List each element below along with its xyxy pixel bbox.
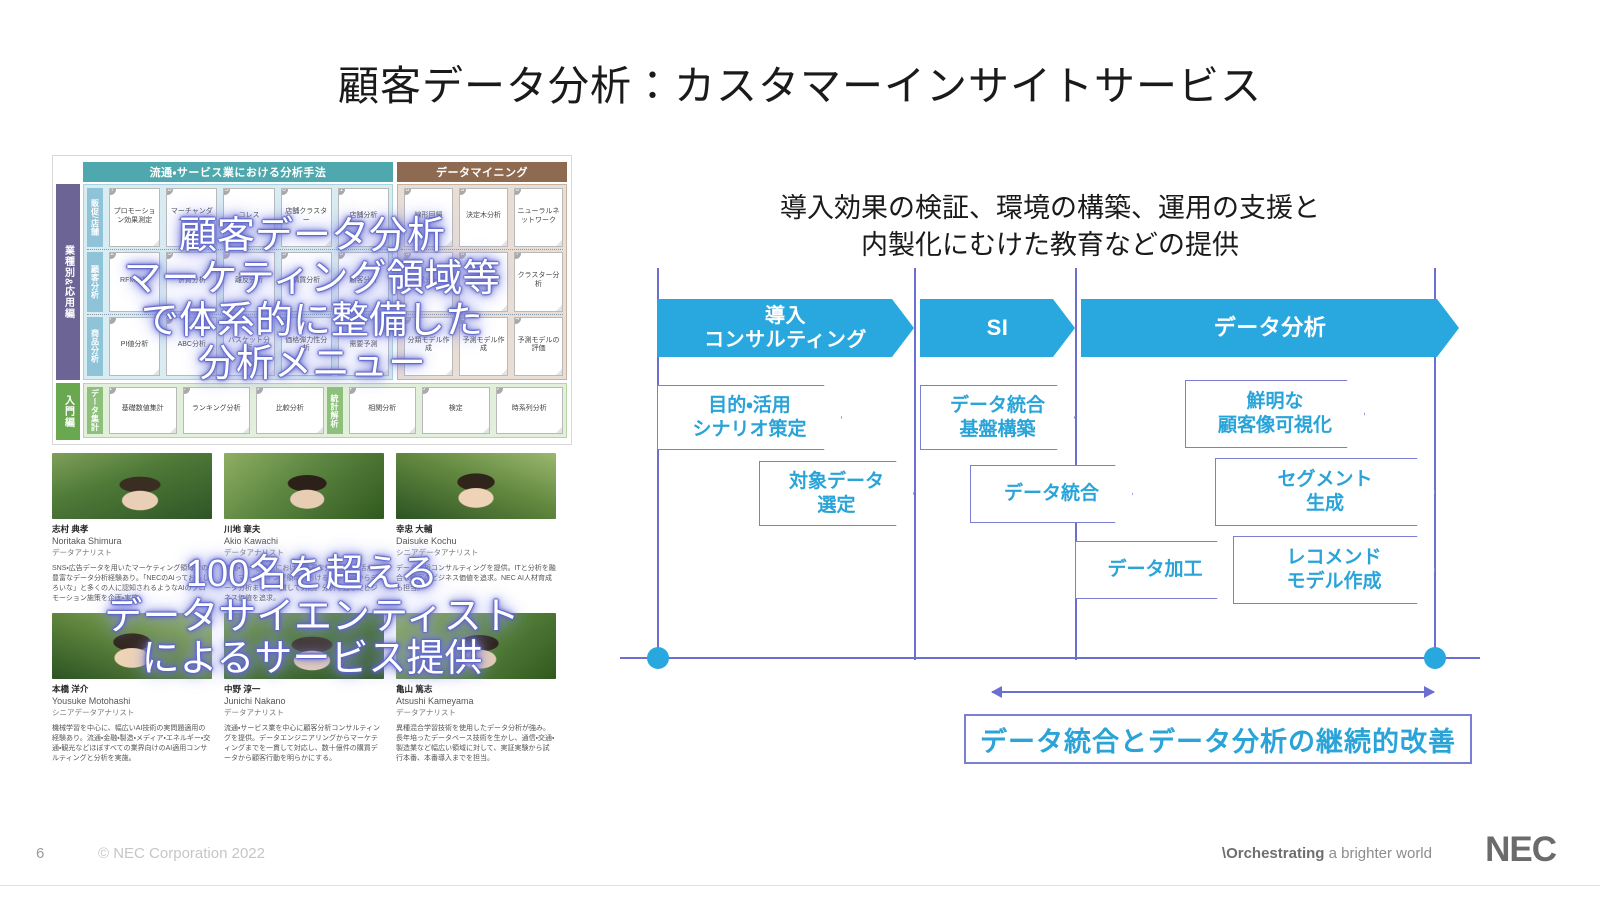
matrix-cell[interactable]: 29決定木分析 xyxy=(456,188,508,247)
matrix-card-number: 6 xyxy=(496,387,503,394)
slide-root: 顧客データ分析：カスタマーインサイトサービス 流通・サービス業における分析手法 … xyxy=(0,0,1600,900)
analysis-matrix: 流通・サービス業における分析手法 データマイニング 業種別&応用編 入門編 販促… xyxy=(52,155,572,445)
matrix-card[interactable]: 17プロモーション効果測定 xyxy=(109,188,160,247)
matrix-card[interactable]: 13併買分析 xyxy=(166,252,217,311)
matrix-card-number: 3 xyxy=(256,387,263,394)
person-name-ja: 亀山 篤志 xyxy=(396,683,556,695)
step-segment-generation[interactable]: セグメント 生成 xyxy=(1215,458,1435,526)
person-role: シニアデータアナリスト xyxy=(52,707,212,718)
person-photo xyxy=(396,613,556,679)
person-card: 幸忠 大輔 Daisuke Kochu シニアデータアナリスト データ分析コンサ… xyxy=(396,453,556,605)
step-purpose-scenario[interactable]: 目的・活用 シナリオ策定 xyxy=(657,385,842,450)
matrix-cell[interactable]: 22分類モデル作成 xyxy=(401,317,453,376)
matrix-card-label: 判別分析 xyxy=(470,277,498,286)
matrix-card[interactable]: 23予測モデル作成 xyxy=(459,317,508,376)
matrix-cell[interactable]: 14離反分析 xyxy=(220,252,274,311)
matrix-card-number: 23 xyxy=(459,317,466,324)
matrix-card-number: 18 xyxy=(166,188,173,195)
matrix-card-label: プロモーション効果測定 xyxy=(111,208,158,226)
matrix-header-datamining: データマイニング xyxy=(397,162,567,182)
step-label-line: シナリオ策定 xyxy=(692,418,806,442)
person-bio: データ分析コンサルティングを提供。ITと分析を融合し顧客のビジネス価値を追求。N… xyxy=(396,564,556,594)
matrix-card-number: 15 xyxy=(281,252,288,259)
person-role: データアナリスト xyxy=(224,707,384,718)
person-name-ja: 中野 淳一 xyxy=(224,683,384,695)
matrix-cell[interactable]: 19コレス xyxy=(220,188,274,247)
matrix-card-number: 20 xyxy=(281,188,288,195)
matrix-cell[interactable]: 5検定 xyxy=(419,387,490,434)
matrix-card-label: 価格弾力性分析 xyxy=(283,337,330,355)
matrix-card-number: 1 xyxy=(109,387,116,394)
matrix-card-number: 10 xyxy=(281,317,288,324)
matrix-card[interactable]: 18マーチャンダイジング xyxy=(166,188,217,247)
right-panel: 導入効果の検証、環境の構築、運用の支援と 内製化にむけた教育などの提供 導入 コ… xyxy=(620,178,1520,798)
matrix-cell[interactable]: 30ニューラルネットワーク xyxy=(511,188,563,247)
matrix-card[interactable]: 28線形回帰 xyxy=(404,188,453,247)
matrix-card-label: 予測モデル作成 xyxy=(461,337,506,355)
matrix-side-label-basic: 入門編 xyxy=(56,383,80,440)
matrix-cell[interactable]: 13併買分析 xyxy=(163,252,217,311)
matrix-card-label: 主成分分析 xyxy=(411,277,446,286)
matrix-card[interactable]: 16顧客分析 xyxy=(338,252,389,311)
page-title: 顧客データ分析：カスタマーインサイトサービス xyxy=(0,52,1600,112)
matrix-cell[interactable]: 27クラスター分析 xyxy=(511,252,563,311)
matrix-card-label: 併買分析 xyxy=(178,277,206,286)
matrix-cell[interactable]: 11需要予測 xyxy=(335,317,389,376)
phase-bar-data-analysis[interactable]: データ分析 xyxy=(1081,299,1459,357)
matrix-cell[interactable]: 1基礎数値集計 xyxy=(106,387,177,434)
person-card: 中野 淳一 Junichi Nakano データアナリスト 流通・サービス業を中… xyxy=(224,613,384,765)
step-label-line: 生成 xyxy=(1277,492,1372,516)
person-bio: 異種混合学習技術を使用したデータ分析が強み。長年培ったデータベース技術を生かし、… xyxy=(396,724,556,765)
matrix-cell[interactable]: 18マーチャンダイジング xyxy=(163,188,217,247)
matrix-card[interactable]: 25主成分分析 xyxy=(404,252,453,311)
matrix-card[interactable]: 26判別分析 xyxy=(459,252,508,311)
phase-label-line: コンサルティング xyxy=(704,328,867,352)
matrix-group-basic: データ集計 1基礎数値集計 2ランキング分析 3比較分析 統計解析 4相関分析 … xyxy=(83,383,567,438)
step-label-line: 基盤構築 xyxy=(950,418,1045,442)
matrix-card-label: 相関分析 xyxy=(368,405,396,414)
person-photo xyxy=(52,453,212,519)
matrix-card[interactable]: 30ニューラルネットワーク xyxy=(514,188,563,247)
matrix-cell[interactable]: 9バスケット分析 xyxy=(220,317,274,376)
step-label-line: データ加工 xyxy=(1107,558,1202,582)
step-label-line: 対象データ xyxy=(789,470,884,494)
person-bio: 機械学習を中心に、幅広いAI技術の実問題適用の経験あり。流通・金融・製造・メディ… xyxy=(52,724,212,765)
person-name-en: Atsushi Kameyama xyxy=(396,696,556,706)
matrix-row: 顧客分析 12RFM分析 13併買分析 14離反分析 15購買分析 16顧客分析 xyxy=(87,249,389,311)
phase-bar-consulting[interactable]: 導入 コンサルティング xyxy=(657,299,914,357)
continuous-improvement-arrow xyxy=(992,691,1434,693)
person-role: データアナリスト xyxy=(396,707,556,718)
matrix-cell[interactable]: 24予測モデルの評価 xyxy=(511,317,563,376)
matrix-card-label: マーチャンダイジング xyxy=(168,208,215,226)
matrix-card-label: 顧客分析 xyxy=(349,277,377,286)
matrix-card-number: 14 xyxy=(223,252,230,259)
phase-divider-mid2 xyxy=(1075,268,1077,660)
matrix-card-number: 27 xyxy=(514,252,521,259)
person-photo xyxy=(52,613,212,679)
matrix-card-label: 需要予測 xyxy=(349,341,377,350)
matrix-card[interactable]: 11需要予測 xyxy=(338,317,389,376)
person-bio: 流通・サービス業を中心に顧客分析コンサルティングを提供。データエンジニアリングか… xyxy=(224,724,384,765)
matrix-cell[interactable]: 7PI値分析 xyxy=(106,317,160,376)
matrix-body: 販促/店舗 17プロモーション効果測定 18マーチャンダイジング 19コレス 2… xyxy=(83,184,567,438)
person-photo xyxy=(396,453,556,519)
person-name-ja: 本橋 洋介 xyxy=(52,683,212,695)
matrix-card-number: 24 xyxy=(514,317,521,324)
matrix-card-number: 26 xyxy=(459,252,466,259)
step-customer-visualization[interactable]: 鮮明な 顧客像可視化 xyxy=(1185,380,1365,448)
tagline-rest: a brighter world xyxy=(1324,845,1432,862)
matrix-card-number: 28 xyxy=(404,188,411,195)
people-row-top: 志村 典孝 Noritaka Shimura データアナリスト SNS・広告デー… xyxy=(52,453,572,605)
matrix-card-label: ABC分析 xyxy=(178,341,206,350)
matrix-card[interactable]: 4相関分析 xyxy=(349,387,417,434)
matrix-card[interactable]: 9バスケット分析 xyxy=(223,317,274,376)
matrix-card-number: 11 xyxy=(338,317,345,324)
matrix-card[interactable]: 2ランキング分析 xyxy=(183,387,251,434)
matrix-card-label: 離反分析 xyxy=(235,277,263,286)
timeline-end-marker xyxy=(1424,647,1446,669)
person-name-ja: 幸忠 大輔 xyxy=(396,523,556,535)
person-bio: SNS・広告データを用いたマーケティング領域での豊富なデータ分析経験あり。「NE… xyxy=(52,564,212,605)
matrix-card-label: 決定木分析 xyxy=(466,212,501,221)
person-card: 本橋 洋介 Yousuke Motohashi シニアデータアナリスト 機械学習… xyxy=(52,613,212,765)
step-label-line: 鮮明な xyxy=(1218,390,1332,414)
matrix-card[interactable]: 5検定 xyxy=(422,387,490,434)
matrix-card-number: 8 xyxy=(166,317,173,324)
phase-label-line: 導入 xyxy=(704,304,867,328)
matrix-cell[interactable]: 20店舗クラスター xyxy=(278,188,332,247)
phase-divider-mid1 xyxy=(914,268,916,660)
timeline-axis xyxy=(620,657,1480,659)
step-recommend-model[interactable]: レコメンド モデル作成 xyxy=(1233,536,1435,604)
matrix-card-number: 19 xyxy=(223,188,230,195)
nec-logo: NEC xyxy=(1485,830,1556,870)
person-name-en: Noritaka Shimura xyxy=(52,536,212,546)
matrix-card[interactable]: 8ABC分析 xyxy=(166,317,217,376)
matrix-group-applied: 販促/店舗 17プロモーション効果測定 18マーチャンダイジング 19コレス 2… xyxy=(83,184,567,380)
matrix-row: 商品分析 7PI値分析 8ABC分析 9バスケット分析 10価格弾力性分析 11… xyxy=(87,314,389,376)
matrix-card[interactable]: 3比較分析 xyxy=(256,387,324,434)
matrix-card-label: クラスター分析 xyxy=(516,272,561,290)
person-name-en: Junichi Nakano xyxy=(224,696,384,706)
matrix-cell[interactable]: 16顧客分析 xyxy=(335,252,389,311)
right-panel-headline: 導入効果の検証、環境の構築、運用の支援と 内製化にむけた教育などの提供 xyxy=(620,190,1480,265)
person-name-en: Daisuke Kochu xyxy=(396,536,556,546)
matrix-cell[interactable]: 23予測モデル作成 xyxy=(456,317,508,376)
matrix-cell[interactable]: 12RFM分析 xyxy=(106,252,160,311)
matrix-card-number: 22 xyxy=(404,317,411,324)
step-target-data-selection[interactable]: 対象データ 選定 xyxy=(759,461,914,526)
matrix-zone-retail: 販促/店舗 17プロモーション効果測定 18マーチャンダイジング 19コレス 2… xyxy=(83,184,393,380)
person-role: シニアデータアナリスト xyxy=(396,547,556,558)
matrix-card-label: 購買分析 xyxy=(292,277,320,286)
matrix-cell[interactable]: 28線形回帰 xyxy=(401,188,453,247)
matrix-row: 販促/店舗 17プロモーション効果測定 18マーチャンダイジング 19コレス 2… xyxy=(87,188,389,247)
person-card: 志村 典孝 Noritaka Shimura データアナリスト SNS・広告デー… xyxy=(52,453,212,605)
matrix-cell[interactable]: 17プロモーション効果測定 xyxy=(106,188,160,247)
left-panel: 流通・サービス業における分析手法 データマイニング 業種別&応用編 入門編 販促… xyxy=(52,155,580,825)
step-label-line: データ統合 xyxy=(950,394,1045,418)
person-card: 川地 章夫 Akio Kawachi データアナリスト 流通・サービス業における… xyxy=(224,453,384,605)
matrix-card[interactable]: 15購買分析 xyxy=(281,252,332,311)
headline-line: 導入効果の検証、環境の構築、運用の支援と xyxy=(620,190,1480,227)
matrix-card[interactable]: 1基礎数値集計 xyxy=(109,387,177,434)
matrix-row: 25主成分分析 26判別分析 27クラスター分析 xyxy=(401,249,563,311)
matrix-card-label: 検定 xyxy=(449,405,463,414)
matrix-cell[interactable]: 25主成分分析 xyxy=(401,252,453,311)
matrix-card-label: 店舗分析 xyxy=(349,212,377,221)
matrix-card-number: 30 xyxy=(514,188,521,195)
step-data-processing[interactable]: データ加工 xyxy=(1075,541,1235,599)
matrix-cell[interactable]: 2ランキング分析 xyxy=(180,387,251,434)
matrix-row: データ集計 1基礎数値集計 2ランキング分析 3比較分析 統計解析 4相関分析 … xyxy=(87,387,563,434)
matrix-card-label: RFM分析 xyxy=(120,277,149,286)
tagline-bold: \Orchestrating xyxy=(1222,845,1325,862)
matrix-card[interactable]: 20店舗クラスター xyxy=(281,188,332,247)
people-row-bottom: 本橋 洋介 Yousuke Motohashi シニアデータアナリスト 機械学習… xyxy=(52,613,572,765)
phase-label-line: SI xyxy=(987,315,1009,341)
matrix-card-label: ランキング分析 xyxy=(192,405,241,414)
person-photo xyxy=(224,453,384,519)
data-scientists-section: 志村 典孝 Noritaka Shimura データアナリスト SNS・広告デー… xyxy=(52,453,572,768)
matrix-card-number: 2 xyxy=(183,387,190,394)
step-label-line: レコメンド xyxy=(1286,546,1381,570)
person-photo xyxy=(224,613,384,679)
matrix-card[interactable]: 10価格弾力性分析 xyxy=(281,317,332,376)
matrix-cell[interactable]: 6時系列分析 xyxy=(493,387,564,434)
matrix-cell[interactable]: 26判別分析 xyxy=(456,252,508,311)
matrix-cell[interactable]: 15購買分析 xyxy=(278,252,332,311)
matrix-card[interactable]: 14離反分析 xyxy=(223,252,274,311)
step-data-integration[interactable]: データ統合 xyxy=(970,465,1133,523)
step-label-line: 選定 xyxy=(789,494,884,518)
matrix-card-label: 予測モデルの評価 xyxy=(516,337,561,355)
page-number: 6 xyxy=(36,845,44,862)
phase-bar-si[interactable]: SI xyxy=(920,299,1075,357)
matrix-card-label: バスケット分析 xyxy=(225,337,272,355)
person-card: 亀山 篤志 Atsushi Kameyama データアナリスト 異種混合学習技術… xyxy=(396,613,556,765)
step-label-line: 目的・活用 xyxy=(692,394,806,418)
step-label-line: 顧客像可視化 xyxy=(1218,414,1332,438)
phase-label-line: データ分析 xyxy=(1214,315,1327,341)
matrix-card-number: 29 xyxy=(459,188,466,195)
matrix-card-number: 21 xyxy=(338,188,345,195)
matrix-row-label-statistics: 統計解析 xyxy=(327,387,343,434)
matrix-card-number: 12 xyxy=(109,252,116,259)
matrix-cell[interactable]: 3比較分析 xyxy=(253,387,324,434)
bottom-caption-continuous-improvement[interactable]: データ統合とデータ分析の継続的改善 xyxy=(964,714,1472,764)
step-label-line: データ統合 xyxy=(1004,482,1099,506)
person-role: データアナリスト xyxy=(224,547,384,558)
matrix-card[interactable]: 24予測モデルの評価 xyxy=(514,317,563,376)
matrix-card-number: 13 xyxy=(166,252,173,259)
matrix-side-label-applied: 業種別&応用編 xyxy=(56,184,80,380)
matrix-card[interactable]: 19コレス xyxy=(223,188,274,247)
matrix-card-label: 時系列分析 xyxy=(512,405,547,414)
matrix-card[interactable]: 12RFM分析 xyxy=(109,252,160,311)
matrix-card[interactable]: 29決定木分析 xyxy=(459,188,508,247)
person-name-ja: 志村 典孝 xyxy=(52,523,212,535)
matrix-card-number: 25 xyxy=(404,252,411,259)
matrix-card[interactable]: 6時系列分析 xyxy=(496,387,564,434)
matrix-row-label: 商品分析 xyxy=(87,317,103,376)
matrix-column-headers: 流通・サービス業における分析手法 データマイニング xyxy=(83,162,567,182)
matrix-card-label: 基礎数値集計 xyxy=(122,405,164,414)
copyright-text: © NEC Corporation 2022 xyxy=(98,845,265,862)
matrix-card-label: 分類モデル作成 xyxy=(406,337,451,355)
step-data-integration-platform[interactable]: データ統合 基盤構築 xyxy=(920,385,1075,450)
person-name-en: Akio Kawachi xyxy=(224,536,384,546)
step-label-line: セグメント xyxy=(1277,468,1372,492)
matrix-side-labels: 業種別&応用編 入門編 xyxy=(56,184,80,440)
matrix-card-number: 17 xyxy=(109,188,116,195)
matrix-zone-basic: データ集計 1基礎数値集計 2ランキング分析 3比較分析 統計解析 4相関分析 … xyxy=(83,383,567,438)
matrix-header-retail: 流通・サービス業における分析手法 xyxy=(83,162,393,182)
matrix-cell[interactable]: 4相関分析 xyxy=(346,387,417,434)
matrix-cell[interactable]: 8ABC分析 xyxy=(163,317,217,376)
matrix-card-label: 店舗クラスター xyxy=(283,208,330,226)
matrix-row-label: 販促/店舗 xyxy=(87,188,103,247)
matrix-card[interactable]: 7PI値分析 xyxy=(109,317,160,376)
headline-line: 内製化にむけた教育などの提供 xyxy=(620,227,1480,264)
matrix-card-label: コレス xyxy=(239,212,260,221)
footer-divider xyxy=(0,885,1600,886)
person-bio: 流通・サービス業における豊富な分析経験を活かし、マーケティング領域における分析企… xyxy=(224,564,384,605)
matrix-row: 22分類モデル作成 23予測モデル作成 24予測モデルの評価 xyxy=(401,314,563,376)
matrix-cell[interactable]: 10価格弾力性分析 xyxy=(278,317,332,376)
matrix-row: 28線形回帰 29決定木分析 30ニューラルネットワーク xyxy=(401,188,563,247)
matrix-card-number: 5 xyxy=(422,387,429,394)
person-name-en: Yousuke Motohashi xyxy=(52,696,212,706)
matrix-cell[interactable]: 21店舗分析 xyxy=(335,188,389,247)
matrix-card-number: 7 xyxy=(109,317,116,324)
matrix-zone-datamining: 28線形回帰 29決定木分析 30ニューラルネットワーク 25主成分分析 26判… xyxy=(397,184,567,380)
matrix-card-number: 9 xyxy=(223,317,230,324)
matrix-card-number: 16 xyxy=(338,252,345,259)
person-name-ja: 川地 章夫 xyxy=(224,523,384,535)
matrix-card[interactable]: 27クラスター分析 xyxy=(514,252,563,311)
matrix-card-label: 比較分析 xyxy=(276,405,304,414)
nec-tagline: \Orchestrating a brighter world xyxy=(1222,845,1432,862)
matrix-card[interactable]: 21店舗分析 xyxy=(338,188,389,247)
matrix-card-label: 線形回帰 xyxy=(415,212,443,221)
timeline-start-marker xyxy=(647,647,669,669)
matrix-card-label: PI値分析 xyxy=(121,341,149,350)
matrix-card-label: ニューラルネットワーク xyxy=(516,208,561,226)
matrix-card[interactable]: 22分類モデル作成 xyxy=(404,317,453,376)
matrix-row-label: 顧客分析 xyxy=(87,252,103,311)
step-label-line: モデル作成 xyxy=(1286,570,1381,594)
person-role: データアナリスト xyxy=(52,547,212,558)
matrix-row-label-aggregation: データ集計 xyxy=(87,387,103,434)
matrix-card-number: 4 xyxy=(349,387,356,394)
